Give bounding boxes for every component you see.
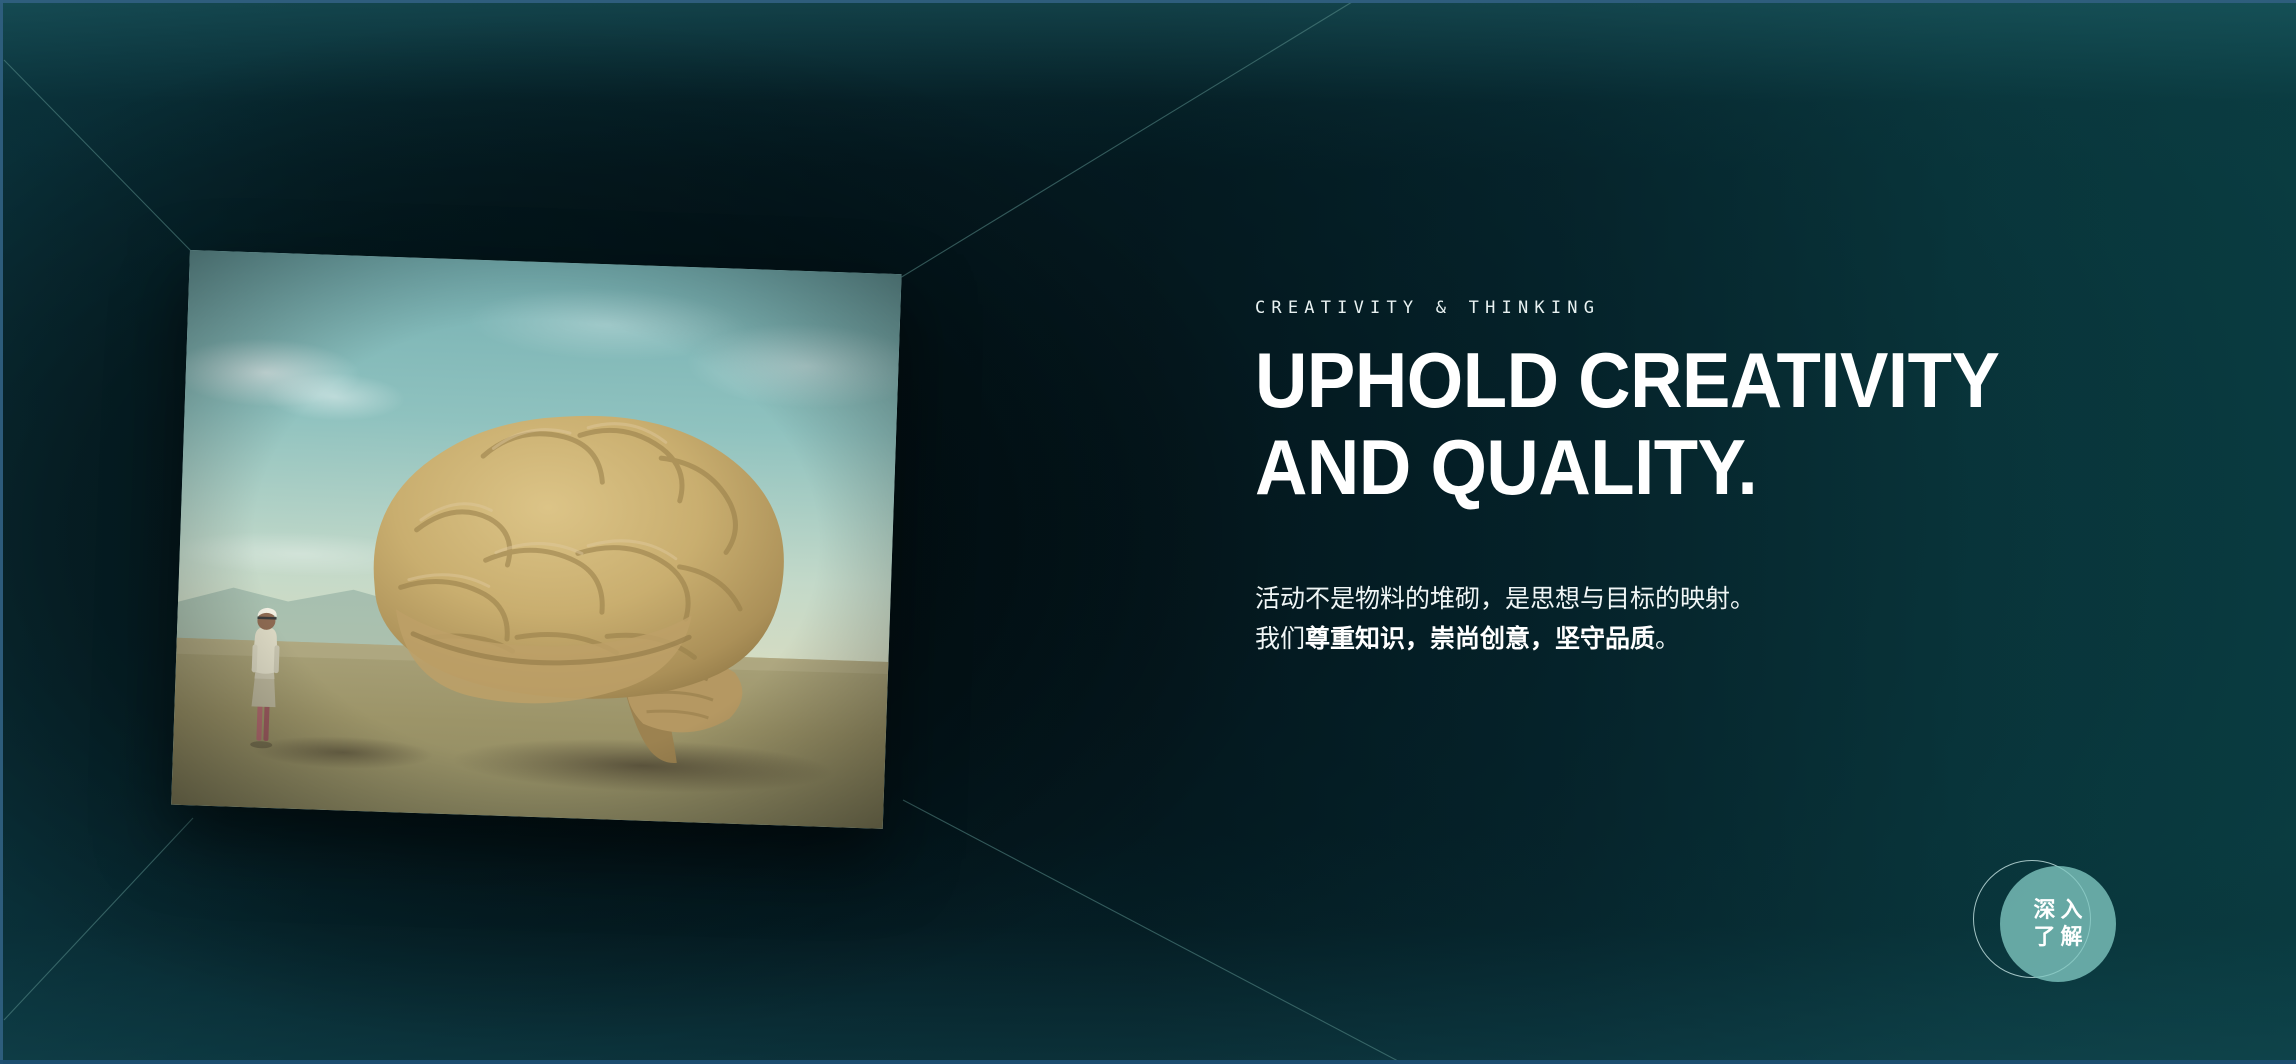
paragraph-line-2-suffix: 。: [1655, 625, 1680, 653]
cta-disc[interactable]: 深入 了解: [2000, 866, 2116, 982]
paragraph-line-2: 我们尊重知识，崇尚创意，坚守品质。: [1255, 619, 2155, 660]
brain-illustration: [171, 250, 901, 829]
frame-left-border: [0, 0, 3, 1064]
hero-image: [171, 250, 901, 829]
cta-label-line-1: 深入: [2028, 897, 2087, 924]
hero-banner: CREATIVITY & THINKING UPHOLD CREATIVITY …: [0, 0, 2296, 1064]
hero-paragraph: 活动不是物料的堆砌，是思想与目标的映射。 我们尊重知识，崇尚创意，坚守品质。: [1255, 579, 2155, 660]
headline-line-2: AND QUALITY.: [1255, 431, 2092, 504]
page-title: UPHOLD CREATIVITY AND QUALITY.: [1255, 344, 2092, 505]
paragraph-line-1: 活动不是物料的堆砌，是思想与目标的映射。: [1255, 579, 2155, 620]
paragraph-line-2-prefix: 我们: [1255, 625, 1305, 653]
cta-label-line-2: 了解: [2028, 924, 2087, 951]
paragraph-line-2-emphasis: 尊重知识，崇尚创意，坚守品质: [1305, 625, 1655, 653]
frame-top-border: [0, 0, 2296, 3]
frame-bottom-border: [0, 1060, 2296, 1064]
headline-line-1: UPHOLD CREATIVITY: [1255, 336, 1999, 424]
brain-photo: [171, 250, 901, 829]
eyebrow-label: CREATIVITY & THINKING: [1255, 300, 2155, 317]
hero-copy: CREATIVITY & THINKING UPHOLD CREATIVITY …: [1255, 300, 2155, 660]
learn-more-button[interactable]: 深入 了解: [2000, 866, 2116, 982]
